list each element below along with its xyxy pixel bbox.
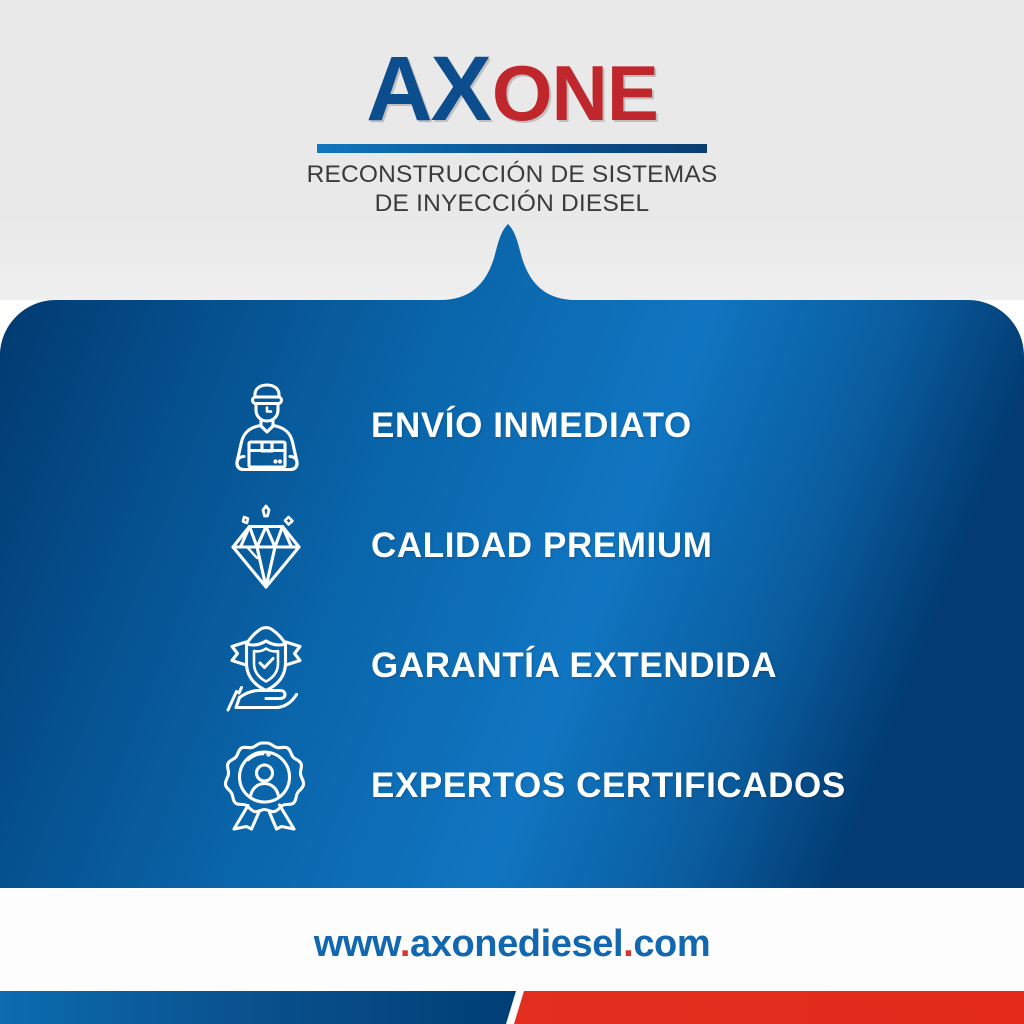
bottom-accent-bar bbox=[0, 991, 1024, 1024]
logo-divider-rule bbox=[317, 144, 707, 153]
feature-label: CALIDAD PREMIUM bbox=[371, 527, 712, 565]
url-dot-1: . bbox=[400, 923, 410, 965]
wordmark: AX ONE bbox=[366, 42, 658, 140]
brand-logo: AX ONE RECONSTRUCCIÓN DE SISTEMAS DE INY… bbox=[0, 42, 1024, 218]
feature-label: EXPERTOS CERTIFICADOS bbox=[371, 767, 846, 805]
url-tld: com bbox=[633, 923, 710, 965]
wordmark-ax: AX bbox=[366, 42, 490, 136]
wordmark-one: ONE bbox=[492, 46, 658, 140]
poster-canvas: AX ONE RECONSTRUCCIÓN DE SISTEMAS DE INY… bbox=[0, 0, 1024, 1024]
delivery-person-box-icon bbox=[221, 377, 313, 475]
tagline-line-2: DE INYECCIÓN DIESEL bbox=[307, 189, 718, 218]
bottom-bar-blue-segment bbox=[0, 991, 516, 1024]
feature-label: GARANTÍA EXTENDIDA bbox=[371, 647, 777, 685]
tagline-line-1: RECONSTRUCCIÓN DE SISTEMAS bbox=[307, 160, 718, 189]
feature-item: EXPERTOS CERTIFICADOS bbox=[0, 726, 1024, 846]
feature-item: CALIDAD PREMIUM bbox=[0, 486, 1024, 606]
feature-label: ENVÍO INMEDIATO bbox=[371, 407, 692, 445]
url-dot-2: . bbox=[623, 923, 633, 965]
bottom-bar-red-segment bbox=[514, 991, 1024, 1024]
diamond-gem-icon bbox=[221, 497, 313, 595]
brand-tagline: RECONSTRUCCIÓN DE SISTEMAS DE INYECCIÓN … bbox=[307, 160, 718, 218]
feature-list: ENVÍO INMEDIATO bbox=[0, 366, 1024, 846]
url-domain: axonediesel bbox=[410, 923, 623, 965]
shield-check-hand-icon bbox=[221, 617, 313, 715]
award-ribbon-person-icon bbox=[221, 737, 313, 835]
feature-item: ENVÍO INMEDIATO bbox=[0, 366, 1024, 486]
website-url[interactable]: www.axonediesel.com bbox=[0, 923, 1024, 966]
feature-item: GARANTÍA EXTENDIDA bbox=[0, 606, 1024, 726]
url-www: www bbox=[314, 923, 400, 965]
